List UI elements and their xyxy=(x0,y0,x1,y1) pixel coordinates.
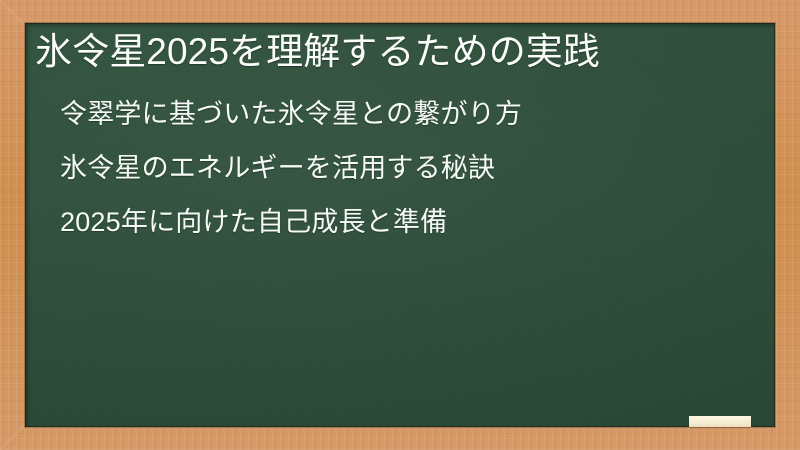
chalkboard-slide: 氷令星2025を理解するための実践 令翠学に基づいた氷令星との繋がり方 氷令星の… xyxy=(0,0,800,450)
bullet-item-3: 2025年に向けた自己成長と準備 xyxy=(60,209,760,236)
bullet-list: 令翠学に基づいた氷令星との繋がり方 氷令星のエネルギーを活用する秘訣 2025年… xyxy=(60,101,760,236)
bullet-item-1: 令翠学に基づいた氷令星との繋がり方 xyxy=(60,101,760,128)
chalkboard-surface: 氷令星2025を理解するための実践 令翠学に基づいた氷令星との繋がり方 氷令星の… xyxy=(25,23,775,427)
bullet-item-2: 氷令星のエネルギーを活用する秘訣 xyxy=(60,155,760,182)
chalk-stick xyxy=(689,416,751,427)
slide-title: 氷令星2025を理解するための実践 xyxy=(35,31,760,72)
board-content: 氷令星2025を理解するための実践 令翠学に基づいた氷令星との繋がり方 氷令星の… xyxy=(25,23,775,427)
